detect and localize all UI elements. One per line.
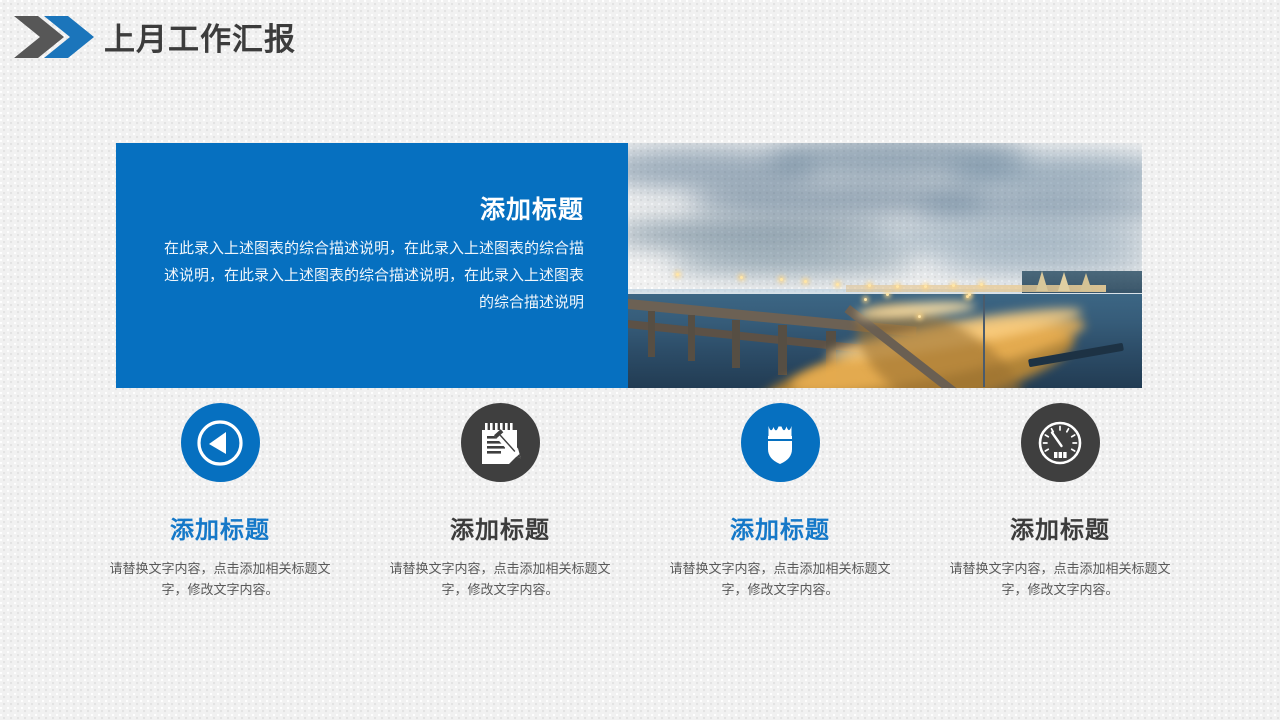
feature-desc-4: 请替换文字内容，点击添加相关标题文字，修改文字内容。 bbox=[947, 558, 1173, 600]
feature-item-1[interactable]: 添加标题 请替换文字内容，点击添加相关标题文字，修改文字内容。 bbox=[80, 403, 360, 653]
feature-title-3: 添加标题 bbox=[730, 516, 830, 546]
page-title: 上月工作汇报 bbox=[104, 18, 296, 62]
feature-icon-circle-2[interactable] bbox=[461, 403, 540, 482]
slide-header: 上月工作汇报 bbox=[0, 0, 1280, 78]
hero-text-pane: 添加标题 在此录入上述图表的综合描述说明，在此录入上述图表的综合描述说明，在此录… bbox=[116, 143, 628, 388]
feature-desc-1: 请替换文字内容，点击添加相关标题文字，修改文字内容。 bbox=[107, 558, 333, 600]
feature-icon-circle-4[interactable] bbox=[1021, 403, 1100, 482]
speedometer-gauge-icon bbox=[1035, 418, 1085, 468]
play-back-circle-icon bbox=[194, 417, 246, 469]
cable-stay-towers bbox=[1028, 269, 1100, 291]
hero-description: 在此录入上述图表的综合描述说明，在此录入上述图表的综合描述说明，在此录入上述图表… bbox=[164, 235, 584, 316]
hero-panel: 添加标题 在此录入上述图表的综合描述说明，在此录入上述图表的综合描述说明，在此录… bbox=[116, 143, 1142, 388]
feature-title-2: 添加标题 bbox=[450, 516, 550, 546]
hero-photo-bridge-night bbox=[628, 143, 1142, 388]
double-chevron-logo bbox=[14, 14, 98, 60]
notepad-pencil-icon bbox=[475, 418, 525, 468]
feature-columns: 添加标题 请替换文字内容，点击添加相关标题文字，修改文字内容。 bbox=[80, 403, 1200, 653]
feature-desc-3: 请替换文字内容，点击添加相关标题文字，修改文字内容。 bbox=[667, 558, 893, 600]
feature-item-4[interactable]: 添加标题 请替换文字内容，点击添加相关标题文字，修改文字内容。 bbox=[920, 403, 1200, 653]
feature-title-1: 添加标题 bbox=[170, 516, 270, 546]
hero-title: 添加标题 bbox=[480, 190, 584, 226]
feature-desc-2: 请替换文字内容，点击添加相关标题文字，修改文字内容。 bbox=[387, 558, 613, 600]
feature-item-3[interactable]: 添加标题 请替换文字内容，点击添加相关标题文字，修改文字内容。 bbox=[640, 403, 920, 653]
crown-shield-icon bbox=[756, 419, 804, 467]
feature-icon-circle-1[interactable] bbox=[181, 403, 260, 482]
feature-icon-circle-3[interactable] bbox=[741, 403, 820, 482]
feature-title-4: 添加标题 bbox=[1010, 516, 1110, 546]
feature-item-2[interactable]: 添加标题 请替换文字内容，点击添加相关标题文字，修改文字内容。 bbox=[360, 403, 640, 653]
